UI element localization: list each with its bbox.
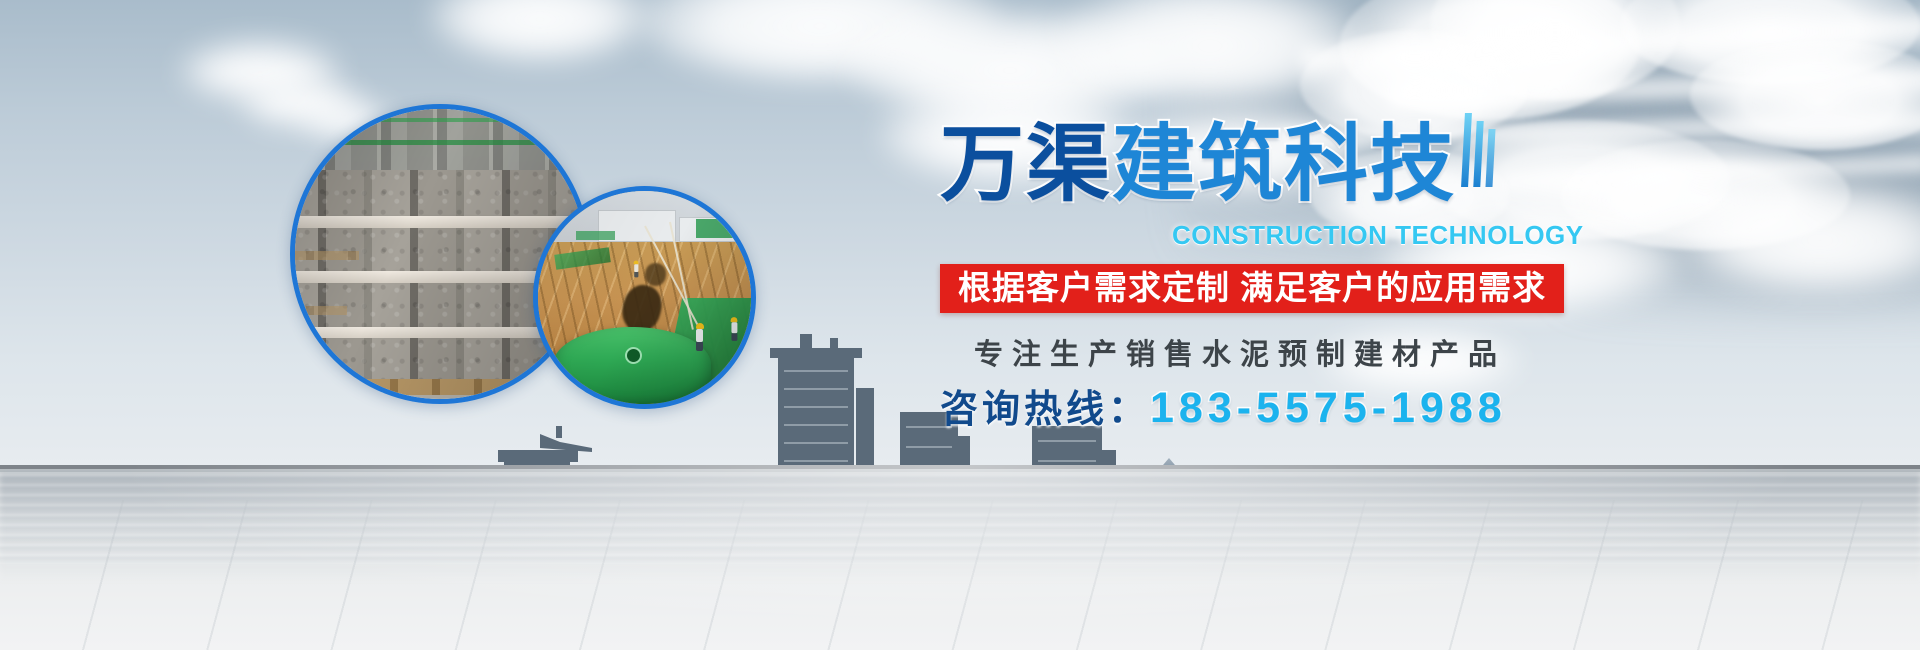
brand-title-part1: 万渠 xyxy=(940,117,1112,211)
hotline-number[interactable]: 183-5575-1988 xyxy=(1150,384,1507,432)
photo-septic-tank-installation xyxy=(533,186,756,409)
brand-title: 万渠建筑科技 xyxy=(940,118,1500,210)
tagline-text: 专注生产销售水泥预制建材产品 xyxy=(974,331,1500,373)
red-highlight-banner: 根据客户需求定制 满足客户的应用需求 xyxy=(940,264,1564,313)
brand-subtitle-en: CONSTRUCTION TECHNOLOGY xyxy=(1172,220,1500,251)
title-accent-bars-icon xyxy=(1458,112,1494,204)
hotline-label: 咨询热线： xyxy=(940,389,1150,431)
reflective-ground xyxy=(0,465,1920,650)
banner-text-block: 万渠建筑科技 CONSTRUCTION TECHNOLOGY 根据客户需求定制 … xyxy=(940,118,1500,430)
brand-title-part2: 建筑科技 xyxy=(1112,117,1456,211)
red-banner-text: 根据客户需求定制 满足客户的应用需求 xyxy=(958,269,1546,306)
promo-banner: 万渠建筑科技 CONSTRUCTION TECHNOLOGY 根据客户需求定制 … xyxy=(0,0,1920,650)
brand-title-row: 万渠建筑科技 xyxy=(940,118,1500,218)
hotline-row: 咨询热线：183-5575-1988 xyxy=(940,387,1500,430)
